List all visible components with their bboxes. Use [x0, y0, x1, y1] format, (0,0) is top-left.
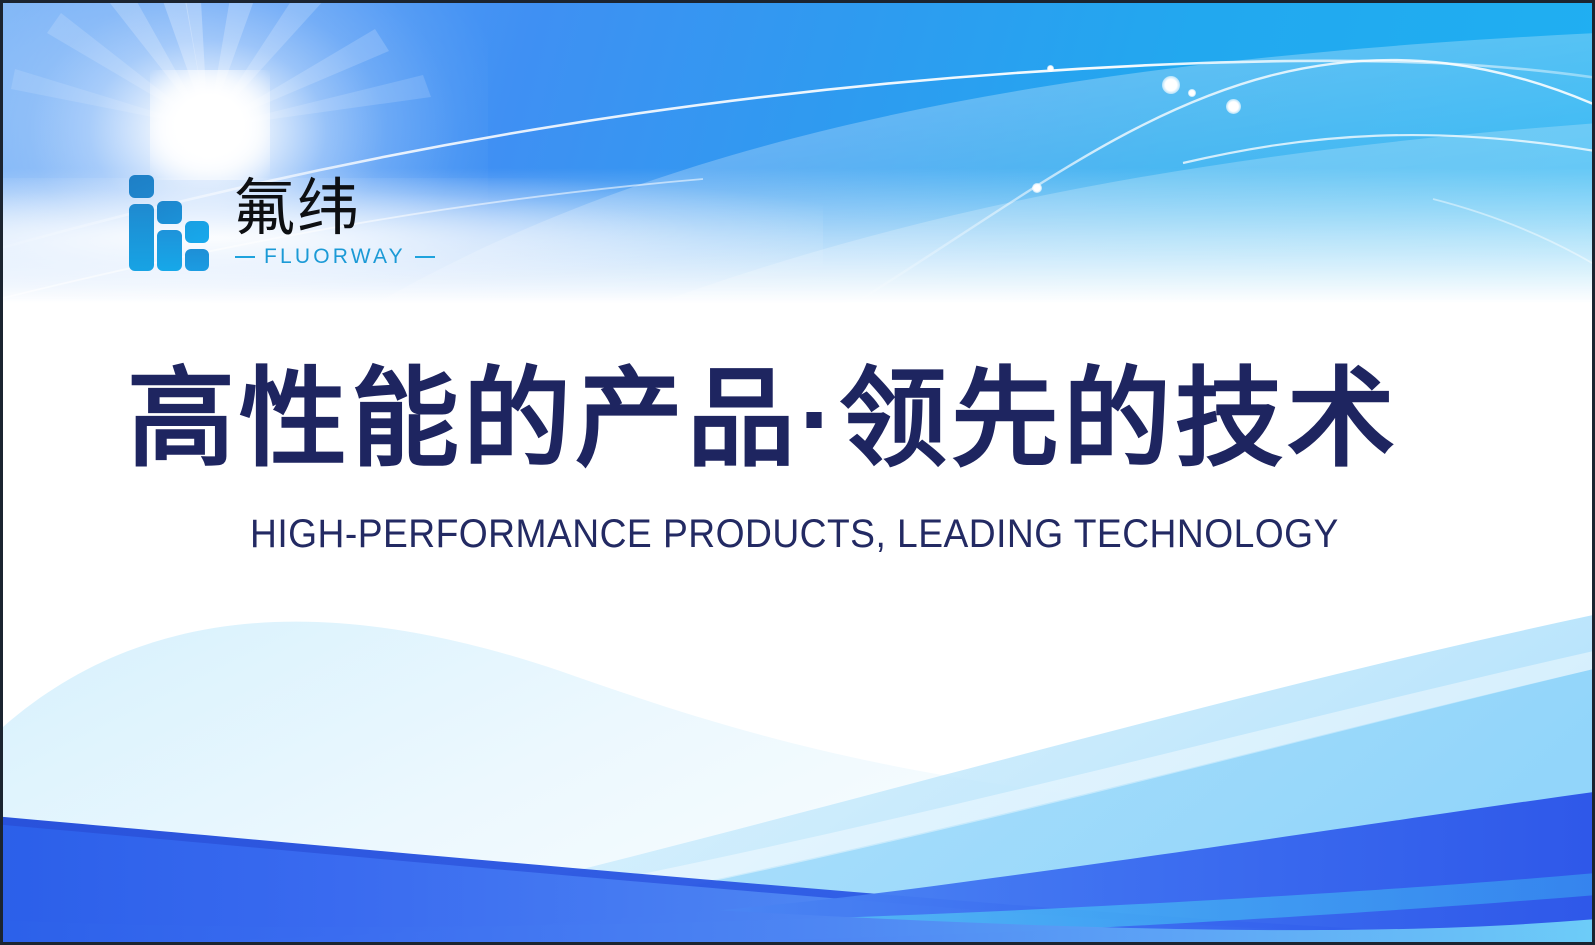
brand-wordmark: 氟纬 FLUORWAY — [233, 176, 435, 271]
logo-bar-dot-3 — [185, 221, 209, 243]
logo-bar-dot-1 — [129, 175, 154, 198]
brand-logo[interactable]: 氟纬 FLUORWAY — [129, 175, 435, 271]
wordmark-rule-right — [415, 256, 435, 258]
headline-cn: 高性能的产品·领先的技术 — [127, 359, 1399, 479]
wordmark-rule-left — [235, 256, 255, 258]
promo-banner: 氟纬 FLUORWAY 高性能的产品·领先的技术 HIGH-PERFORMANC… — [0, 0, 1595, 945]
logo-bar-3 — [185, 249, 209, 271]
brand-name-cn: 氟纬 — [233, 176, 435, 242]
subheadline-en: HIGH-PERFORMANCE PRODUCTS, LEADING TECHN… — [250, 511, 1339, 557]
logo-bar-dot-2 — [157, 201, 182, 224]
banner-content: 氟纬 FLUORWAY 高性能的产品·领先的技术 HIGH-PERFORMANC… — [3, 3, 1592, 942]
logo-bar-1 — [129, 204, 154, 271]
logo-bar-2 — [157, 230, 182, 271]
brand-name-en: FLUORWAY — [264, 245, 406, 269]
brand-name-en-row: FLUORWAY — [233, 245, 435, 269]
fluorway-bar-mark-icon — [129, 175, 209, 271]
